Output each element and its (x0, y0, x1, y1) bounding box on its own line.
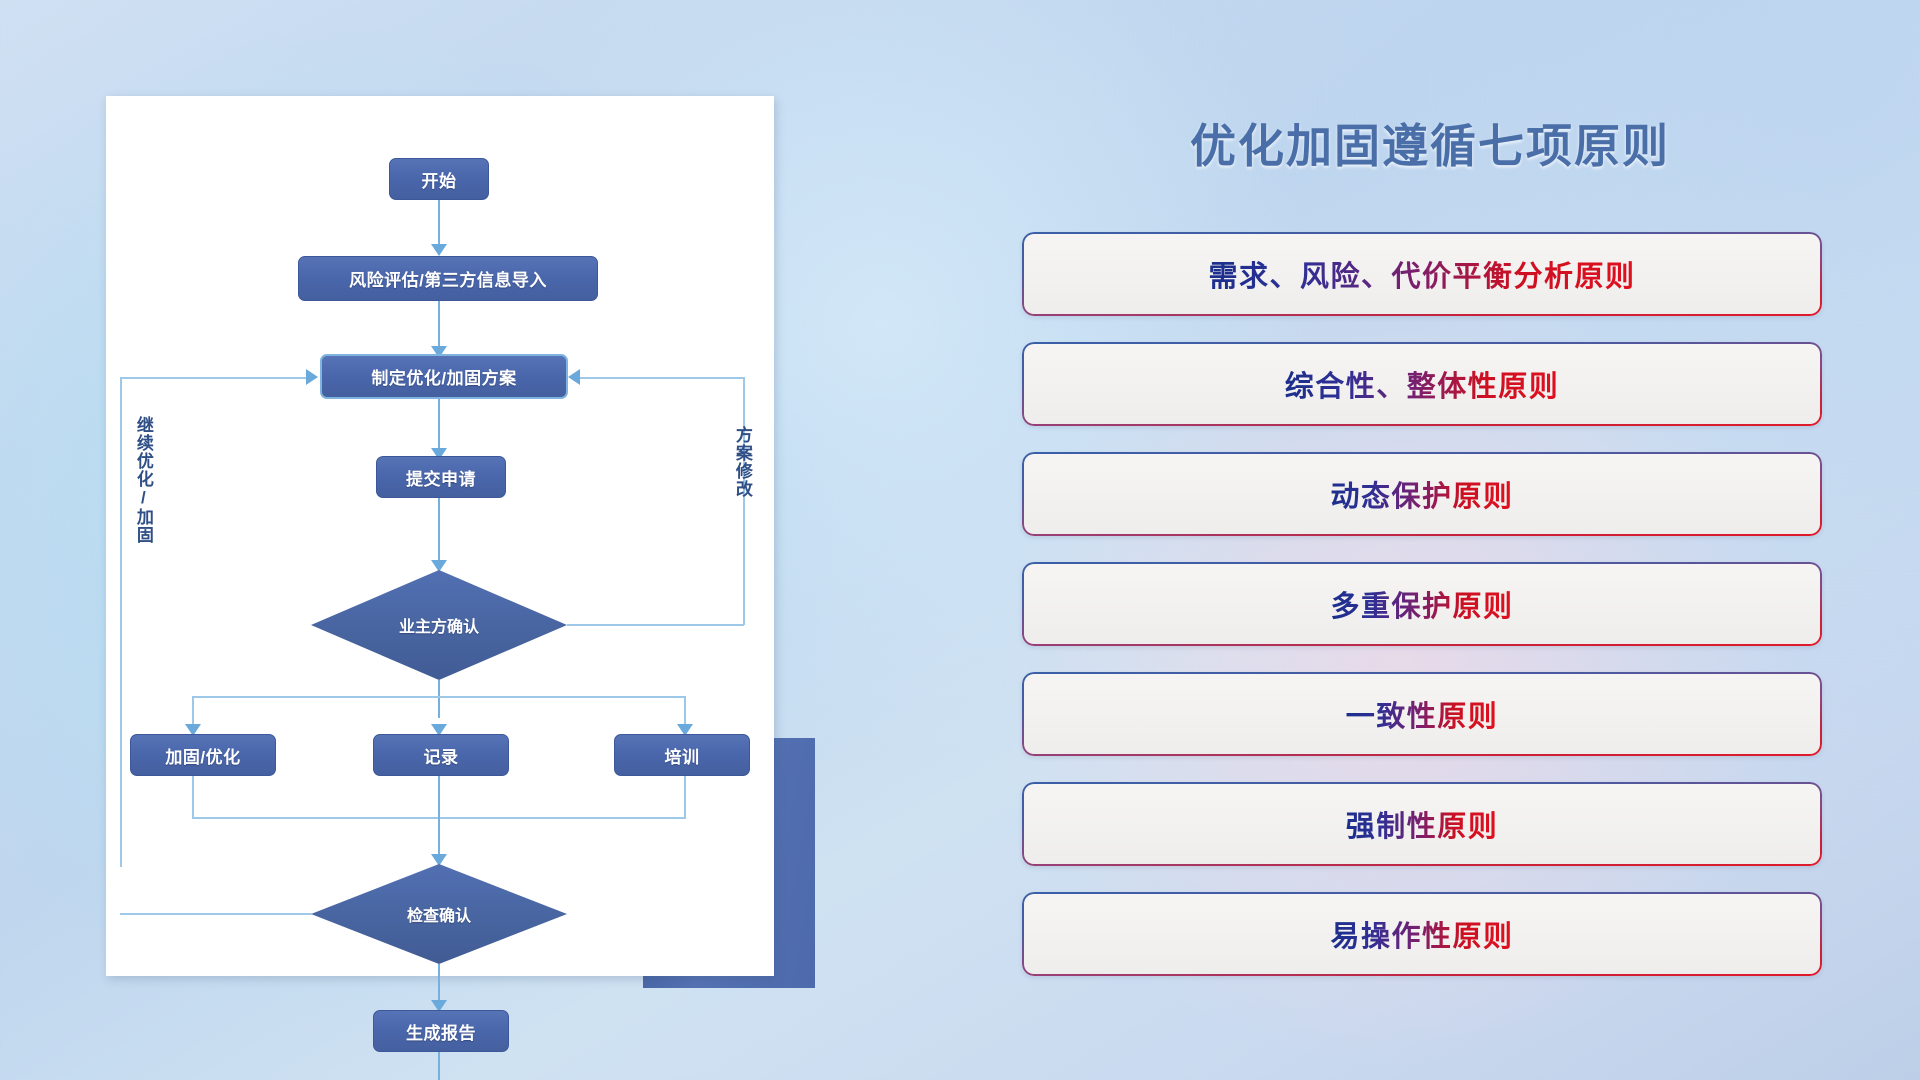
principle-card[interactable]: 强制性原则 (1022, 782, 1822, 866)
edge-inspect-to-left-loop (120, 913, 312, 915)
edge-label-continue-optimize: 继续优化/加固 (134, 416, 152, 544)
edge-branch-bus (192, 696, 686, 698)
principle-label: 易操作性原则 (1330, 913, 1513, 955)
node-reinforce-optimize[interactable]: 加固/优化 (130, 734, 276, 776)
principle-card[interactable]: 易操作性原则 (1022, 892, 1822, 976)
flowchart-card: 开始 风险评估/第三方信息导入 制定优化/加固方案 提交申请 业主方确认 (106, 96, 774, 976)
node-inspect-confirm[interactable]: 检查确认 (311, 864, 567, 964)
principle-card[interactable]: 动态保护原则 (1022, 452, 1822, 536)
principle-label: 需求、风险、代价平衡分析原则 (1208, 253, 1635, 295)
flowchart-diagram: 开始 风险评估/第三方信息导入 制定优化/加固方案 提交申请 业主方确认 (106, 96, 774, 976)
edge-right-to-plan (580, 377, 744, 379)
node-owner-confirm[interactable]: 业主方确认 (311, 570, 567, 680)
edge-merge-left-v (192, 776, 194, 818)
node-generate-report[interactable]: 生成报告 (373, 1010, 509, 1052)
edge-merge-right-v (684, 776, 686, 818)
edge-left-to-plan (120, 377, 308, 379)
principle-label: 多重保护原则 (1330, 583, 1513, 625)
arrow-down-risk (431, 244, 447, 256)
node-submit-application[interactable]: 提交申请 (376, 456, 506, 498)
edge-label-plan-revision: 方案修改 (733, 426, 751, 498)
edge-plan-to-submit (438, 399, 440, 455)
node-risk-assessment[interactable]: 风险评估/第三方信息导入 (298, 256, 598, 301)
principles-list: 需求、风险、代价平衡分析原则 综合性、整体性原则 动态保护原则 多重保护原则 一… (1022, 232, 1822, 1002)
principles-panel: 优化加固遵循七项原则 需求、风险、代价平衡分析原则 综合性、整体性原则 动态保护… (980, 0, 1920, 1080)
node-training[interactable]: 培训 (614, 734, 750, 776)
principle-label: 强制性原则 (1346, 803, 1499, 845)
arrow-left-plan (568, 369, 580, 385)
page-title: 优化加固遵循七项原则 (980, 110, 1880, 176)
principle-card[interactable]: 一致性原则 (1022, 672, 1822, 756)
principle-card[interactable]: 多重保护原则 (1022, 562, 1822, 646)
edge-owner-right (567, 624, 744, 626)
principle-label: 动态保护原则 (1330, 473, 1513, 515)
node-start[interactable]: 开始 (389, 158, 489, 200)
principle-label: 综合性、整体性原则 (1285, 363, 1560, 405)
principle-card[interactable]: 需求、风险、代价平衡分析原则 (1022, 232, 1822, 316)
principle-card[interactable]: 综合性、整体性原则 (1022, 342, 1822, 426)
edge-report-to-end (438, 1052, 440, 1080)
edge-record-down (438, 776, 440, 862)
node-make-plan[interactable]: 制定优化/加固方案 (320, 354, 568, 399)
edge-left-loop-v (120, 377, 122, 867)
arrow-right-plan (306, 369, 318, 385)
node-record[interactable]: 记录 (373, 734, 509, 776)
edge-right-up (743, 377, 745, 625)
edge-owner-down (438, 680, 440, 718)
node-owner-confirm-label: 业主方确认 (311, 570, 567, 680)
principle-label: 一致性原则 (1346, 693, 1499, 735)
edge-submit-to-owner (438, 498, 440, 568)
flowchart-panel: 开始 风险评估/第三方信息导入 制定优化/加固方案 提交申请 业主方确认 (0, 0, 830, 1080)
node-inspect-confirm-label: 检查确认 (311, 864, 567, 964)
